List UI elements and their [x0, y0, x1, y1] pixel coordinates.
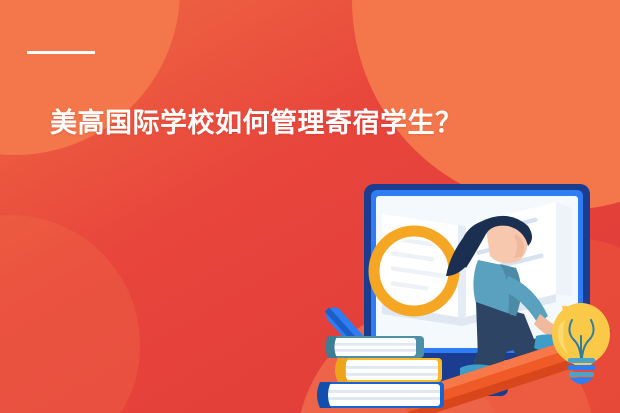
accent-rule: [27, 51, 95, 54]
study-research-illustration: [310, 168, 620, 413]
banner-card: 美高国际学校如何管理寄宿学生？: [0, 0, 620, 413]
page-title: 美高国际学校如何管理寄宿学生？: [50, 106, 463, 140]
